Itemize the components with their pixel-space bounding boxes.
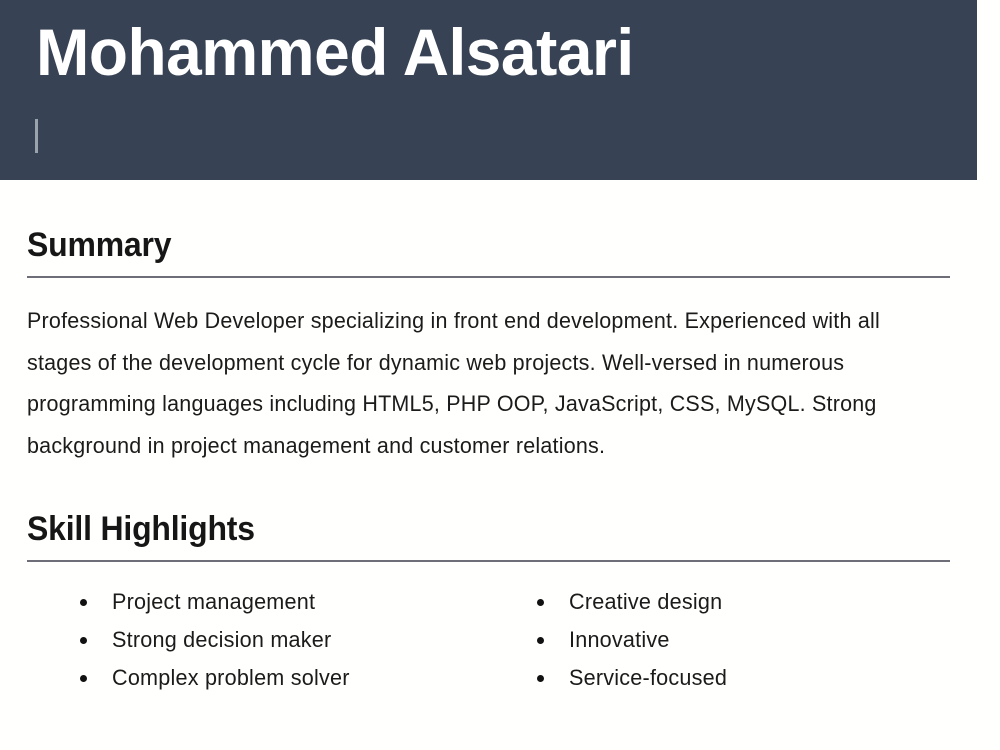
section-summary: Summary Professional Web Developer speci… xyxy=(27,228,950,466)
skill-item: Innovative xyxy=(537,621,937,659)
summary-paragraph: Professional Web Developer specializing … xyxy=(27,286,904,466)
section-skill-highlights: Skill Highlights Project managementStron… xyxy=(27,512,950,733)
section-divider-skill-highlights xyxy=(27,560,950,562)
skill-item-label: Complex problem solver xyxy=(112,659,350,697)
skill-item: Project management xyxy=(80,583,500,621)
skill-item: Complex problem solver xyxy=(80,659,500,697)
bullet-icon xyxy=(80,675,87,682)
skills-columns: Project managementStrong decision makerC… xyxy=(27,570,950,733)
skill-item-label: Strong decision maker xyxy=(112,621,331,659)
bullet-icon xyxy=(80,599,87,606)
skill-item: Creative design xyxy=(537,583,937,621)
skill-item-label: Innovative xyxy=(569,621,670,659)
skill-item-label: Service-focused xyxy=(569,659,727,697)
resume-body: Summary Professional Web Developer speci… xyxy=(0,180,1000,750)
bullet-icon xyxy=(537,637,544,644)
skills-column-right: Creative designInnovativeService-focused xyxy=(537,583,937,697)
skill-item-label: Creative design xyxy=(569,583,722,621)
skill-item: Strong decision maker xyxy=(80,621,500,659)
bullet-icon xyxy=(537,675,544,682)
skill-item: Service-focused xyxy=(537,659,937,697)
resume-header-banner: Mohammed Alsatari xyxy=(0,0,977,180)
skills-column-left: Project managementStrong decision makerC… xyxy=(80,583,500,697)
bullet-icon xyxy=(537,599,544,606)
section-divider-summary xyxy=(27,276,950,278)
section-heading-skill-highlights: Skill Highlights xyxy=(27,512,895,546)
candidate-name: Mohammed Alsatari xyxy=(36,14,634,92)
section-heading-summary: Summary xyxy=(27,228,895,262)
resume-page: Mohammed Alsatari Summary Professional W… xyxy=(0,0,1000,750)
text-caret xyxy=(35,119,38,153)
skill-item-label: Project management xyxy=(112,583,315,621)
bullet-icon xyxy=(80,637,87,644)
